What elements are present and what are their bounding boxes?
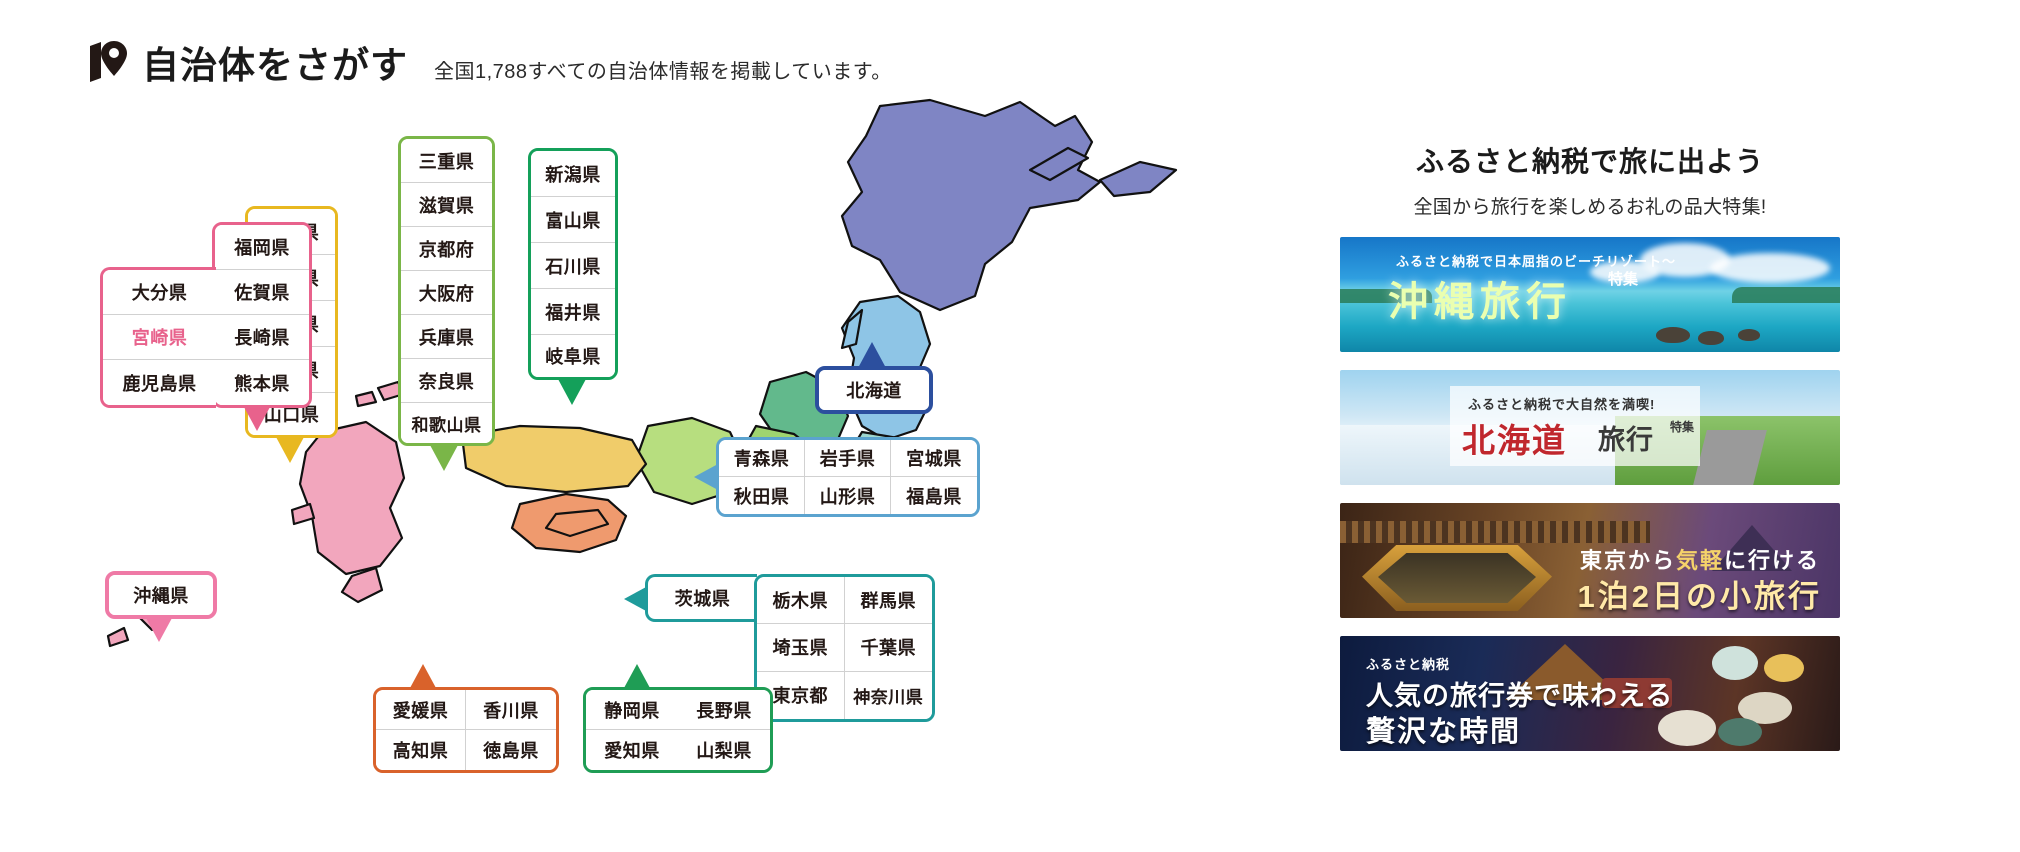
banner-lead-text: ふるさと納税で大自然を満喫! <box>1468 394 1655 413</box>
prefecture-hyogo[interactable]: 兵庫県 <box>401 315 492 359</box>
region-tokai[interactable]: 静岡県 長野県 愛知県 山梨県 <box>583 687 773 773</box>
region-okinawa[interactable]: 沖縄県 <box>105 571 217 619</box>
rock-shape <box>1738 329 1760 341</box>
cloud-shape <box>1710 253 1830 283</box>
region-kyushu-right[interactable]: 福岡県 佐賀県 長崎県 熊本県 <box>212 222 312 408</box>
banner-line-1-c: に行ける <box>1724 548 1820 573</box>
prefecture-osaka[interactable]: 大阪府 <box>401 271 492 315</box>
banner-title-secondary: 旅行 <box>1598 418 1654 457</box>
pointer-okinawa <box>146 618 172 642</box>
onsen-water-shape <box>1378 553 1536 603</box>
banner-title: 北海道 <box>1462 414 1567 462</box>
pointer-shikoku <box>410 664 436 688</box>
prefecture-miyazaki[interactable]: 宮崎県 <box>103 315 216 360</box>
region-kansai[interactable]: 三重県 滋賀県 京都府 大阪府 兵庫県 奈良県 和歌山県 <box>398 136 495 446</box>
banner-line-2: 1泊2日の小旅行 <box>1578 571 1822 616</box>
prefecture-miyagi[interactable]: 宮城県 <box>891 440 977 477</box>
prefecture-oita[interactable]: 大分県 <box>103 270 216 315</box>
prefecture-shiga[interactable]: 滋賀県 <box>401 183 492 227</box>
dish-shape <box>1718 718 1762 746</box>
page-header: 自治体をさがす 全国1,788すべての自治体情報を掲載しています。 <box>88 34 892 84</box>
region-hokuriku[interactable]: 新潟県 富山県 石川県 福井県 岐阜県 <box>528 148 618 380</box>
prefecture-kanagawa[interactable]: 神奈川県 <box>845 672 933 719</box>
banner-line-3: 贅沢な時間 <box>1366 708 1521 750</box>
prefecture-kochi[interactable]: 高知県 <box>376 730 466 770</box>
banner-badge: 特集 <box>1608 271 1626 288</box>
pointer-kanto <box>624 586 648 612</box>
prefecture-ehime[interactable]: 愛媛県 <box>376 690 466 730</box>
prefecture-fukuoka[interactable]: 福岡県 <box>215 225 309 270</box>
prefecture-kumamoto[interactable]: 熊本県 <box>215 360 309 405</box>
pointer-chugoku <box>276 437 304 463</box>
prefecture-tochigi[interactable]: 栃木県 <box>757 577 845 624</box>
coastline-shape <box>1732 287 1840 303</box>
dish-shape <box>1658 710 1716 746</box>
prefecture-aomori[interactable]: 青森県 <box>719 440 805 477</box>
banner-travel-voucher[interactable]: ふるさと納税 人気の旅行券で味わえる 贅沢な時間 <box>1340 636 1840 751</box>
prefecture-okinawa[interactable]: 沖縄県 <box>109 575 213 615</box>
prefecture-shizuoka[interactable]: 静岡県 <box>586 690 678 730</box>
dish-shape <box>1712 646 1758 680</box>
promo-subtitle: 全国から旅行を楽しめるお礼の品大特集! <box>1340 192 1840 219</box>
region-tohoku[interactable]: 青森県 岩手県 宮城県 秋田県 山形県 福島県 <box>716 437 980 517</box>
prefecture-hokkaido[interactable]: 北海道 <box>819 370 929 410</box>
prefecture-saitama[interactable]: 埼玉県 <box>757 624 845 671</box>
prefecture-gifu[interactable]: 岐阜県 <box>531 335 615 377</box>
banner-title: 沖縄旅行 <box>1388 269 1572 327</box>
promo-title: ふるさと納税で旅に出よう <box>1340 140 1840 180</box>
prefecture-chiba[interactable]: 千葉県 <box>845 624 933 671</box>
prefecture-akita[interactable]: 秋田県 <box>719 477 805 514</box>
region-kyushu-left[interactable]: 大分県 宮崎県 鹿児島県 <box>100 267 216 408</box>
prefecture-niigata[interactable]: 新潟県 <box>531 151 615 197</box>
prefecture-kagawa[interactable]: 香川県 <box>466 690 556 730</box>
banner-short-trip[interactable]: 東京から気軽に行ける 1泊2日の小旅行 <box>1340 503 1840 618</box>
map-stage: 北海道 青森県 岩手県 宮城県 秋田県 山形県 福島県 茨城県 栃木県 群馬県 … <box>0 96 1300 836</box>
banner-badge: 特集 <box>1670 420 1684 434</box>
rock-shape <box>1698 331 1724 345</box>
page-root: 自治体をさがす 全国1,788すべての自治体情報を掲載しています。 <box>0 0 2020 852</box>
prefecture-nagasaki[interactable]: 長崎県 <box>215 315 309 360</box>
prefecture-iwate[interactable]: 岩手県 <box>805 440 891 477</box>
map-pin-icon <box>88 40 128 84</box>
prefecture-aichi[interactable]: 愛知県 <box>586 730 678 770</box>
pointer-kansai <box>430 445 458 471</box>
prefecture-saga[interactable]: 佐賀県 <box>215 270 309 315</box>
prefecture-wakayama[interactable]: 和歌山県 <box>401 403 492 443</box>
pointer-hokkaido <box>858 342 886 368</box>
prefecture-kagoshima[interactable]: 鹿児島県 <box>103 360 216 405</box>
prefecture-mie[interactable]: 三重県 <box>401 139 492 183</box>
page-subtitle: 全国1,788すべての自治体情報を掲載しています。 <box>434 55 892 84</box>
banner-lead-text: ふるさと納税で日本屈指のビーチリゾート〜 <box>1396 251 1676 270</box>
dish-shape <box>1764 654 1804 682</box>
banner-line-1-a: 東京から <box>1580 548 1676 573</box>
banner-line-1-highlight: 気軽 <box>1676 548 1724 573</box>
rock-shape <box>1656 327 1690 343</box>
pointer-hokuriku <box>558 379 586 405</box>
prefecture-fukushima[interactable]: 福島県 <box>891 477 977 514</box>
pointer-tohoku <box>694 464 718 490</box>
prefecture-ishikawa[interactable]: 石川県 <box>531 243 615 289</box>
prefecture-tokushima[interactable]: 徳島県 <box>466 730 556 770</box>
wooden-fence-shape <box>1340 521 1650 543</box>
region-hokkaido[interactable]: 北海道 <box>815 366 933 414</box>
prefecture-nagano[interactable]: 長野県 <box>678 690 770 730</box>
region-shikoku[interactable]: 愛媛県 香川県 高知県 徳島県 <box>373 687 559 773</box>
banner-okinawa-travel[interactable]: ふるさと納税で日本屈指のビーチリゾート〜 沖縄旅行 特集 <box>1340 237 1840 352</box>
banner-hokkaido-travel[interactable]: ふるさと納税で大自然を満喫! 北海道 旅行 特集 <box>1340 370 1840 485</box>
prefecture-gunma[interactable]: 群馬県 <box>845 577 933 624</box>
pointer-kyushu <box>244 407 270 431</box>
pointer-tokai <box>624 664 650 688</box>
prefecture-fukui[interactable]: 福井県 <box>531 289 615 335</box>
prefecture-kyoto[interactable]: 京都府 <box>401 227 492 271</box>
prefecture-yamagata[interactable]: 山形県 <box>805 477 891 514</box>
prefecture-ibaraki[interactable]: 茨城県 <box>645 574 757 622</box>
prefecture-nara[interactable]: 奈良県 <box>401 359 492 403</box>
prefecture-toyama[interactable]: 富山県 <box>531 197 615 243</box>
page-title: 自治体をさがす <box>142 47 408 84</box>
promo-rail: ふるさと納税で旅に出よう 全国から旅行を楽しめるお礼の品大特集! ふるさと納税で… <box>1340 140 1840 751</box>
kanto-grid: 栃木県 群馬県 埼玉県 千葉県 東京都 神奈川県 <box>754 574 935 722</box>
banner-line-1: ふるさと納税 <box>1366 654 1450 673</box>
prefecture-yamanashi[interactable]: 山梨県 <box>678 730 770 770</box>
